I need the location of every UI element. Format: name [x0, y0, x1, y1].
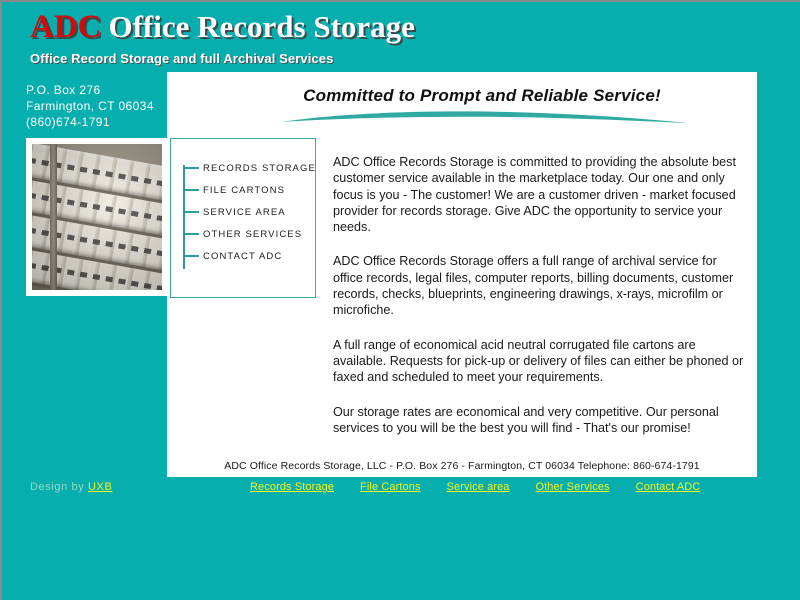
- design-credit: Design by UXB: [30, 481, 112, 493]
- footer-link-other-services[interactable]: Other Services: [536, 481, 610, 493]
- logo-adc-text: ADC: [30, 9, 102, 45]
- nav-branch-line-icon: [183, 211, 199, 213]
- site-tagline: Office Record Storage and full Archival …: [30, 51, 333, 66]
- sidebar-item-label: SERVICE AREA: [203, 207, 286, 218]
- body-paragraph: Our storage rates are economical and ver…: [333, 404, 745, 437]
- sidebar-item-label: CONTACT ADC: [203, 251, 282, 262]
- design-credit-link-uxb[interactable]: UXB: [88, 481, 112, 493]
- sidebar-item-label: FILE CARTONS: [203, 185, 285, 196]
- address-city-state-zip: Farmington, CT 06034: [26, 98, 154, 114]
- photo-vignette: [32, 144, 162, 290]
- footer-link-file-cartons[interactable]: File Cartons: [360, 481, 421, 493]
- nav-branch-line-icon: [183, 167, 199, 169]
- design-credit-prefix: Design by: [30, 481, 88, 493]
- body-paragraph: A full range of economical acid neutral …: [333, 337, 745, 386]
- sidebar-item-other-services[interactable]: OTHER SERVICES: [183, 223, 317, 245]
- panel-footer-contact-line: ADC Office Records Storage, LLC - P.O. B…: [167, 460, 757, 472]
- sidebar-item-contact-adc[interactable]: CONTACT ADC: [183, 245, 317, 267]
- footer-link-service-area[interactable]: Service area: [447, 481, 510, 493]
- nav-branch-line-icon: [183, 255, 199, 257]
- logo-company-text: Office Records Storage: [109, 9, 415, 44]
- headline-swoosh-underline: [279, 109, 689, 127]
- footer-link-contact-adc[interactable]: Contact ADC: [636, 481, 701, 493]
- contact-address-block: P.O. Box 276 Farmington, CT 06034 (860)6…: [26, 82, 154, 130]
- sidebar-item-records-storage[interactable]: RECORDS STORAGE: [183, 157, 317, 179]
- content-panel: Committed to Prompt and Reliable Service…: [167, 72, 757, 477]
- sidebar-item-service-area[interactable]: SERVICE AREA: [183, 201, 317, 223]
- page-headline: Committed to Prompt and Reliable Service…: [272, 86, 692, 106]
- sidebar-item-label: OTHER SERVICES: [203, 229, 302, 240]
- sidebar-item-label: RECORDS STORAGE: [203, 163, 316, 174]
- page-root: ADCOffice Records Storage Office Record …: [0, 0, 800, 600]
- side-nav-list: RECORDS STORAGE FILE CARTONS SERVICE ARE…: [183, 157, 317, 267]
- footer-nav: Records Storage File Cartons Service are…: [250, 481, 700, 493]
- site-header: ADCOffice Records Storage Office Record …: [2, 2, 800, 70]
- site-logo: ADCOffice Records Storage: [30, 11, 415, 44]
- warehouse-photo-frame: [26, 138, 168, 296]
- body-copy: ADC Office Records Storage is committed …: [333, 154, 745, 436]
- address-po-box: P.O. Box 276: [26, 82, 154, 98]
- nav-branch-line-icon: [183, 189, 199, 191]
- sidebar-item-file-cartons[interactable]: FILE CARTONS: [183, 179, 317, 201]
- nav-branch-line-icon: [183, 233, 199, 235]
- footer-link-records-storage[interactable]: Records Storage: [250, 481, 334, 493]
- address-phone: (860)674-1791: [26, 114, 154, 130]
- body-paragraph: ADC Office Records Storage offers a full…: [333, 253, 745, 318]
- side-nav-box: RECORDS STORAGE FILE CARTONS SERVICE ARE…: [170, 138, 316, 298]
- body-paragraph: ADC Office Records Storage is committed …: [333, 154, 745, 235]
- warehouse-photo: [32, 144, 162, 290]
